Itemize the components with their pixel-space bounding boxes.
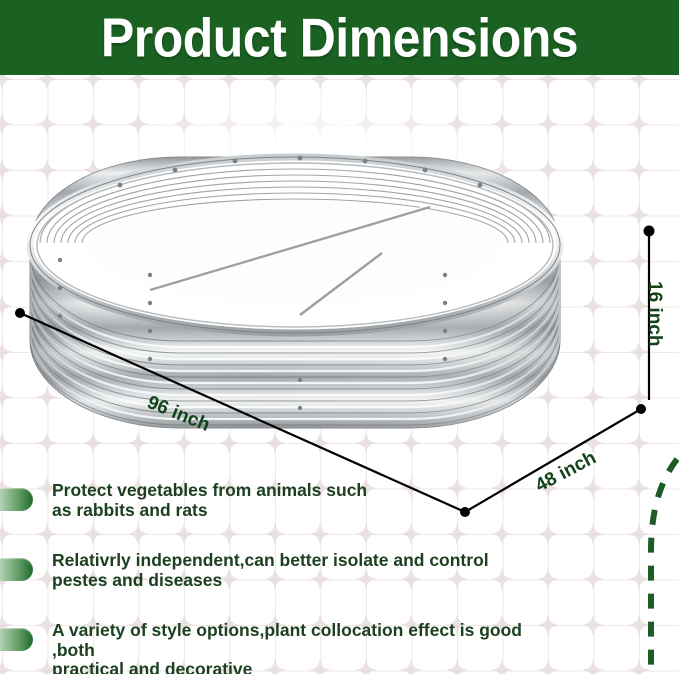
feature-text-3: A variety of style options,plant colloca… bbox=[52, 621, 522, 674]
bullet-pill-icon bbox=[0, 628, 33, 651]
feature-text-2: Relativrly independent,can better isolat… bbox=[52, 551, 522, 590]
feature-line-2a: Relativrly independent,can better isolat… bbox=[52, 550, 489, 570]
feature-line-2b: pestes and diseases bbox=[52, 570, 222, 590]
feature-item-2: Relativrly independent,can better isolat… bbox=[0, 548, 679, 618]
feature-list: Protect vegetables from animals such as … bbox=[0, 478, 679, 674]
feature-line-1b: as rabbits and rats bbox=[52, 500, 208, 520]
feature-line-3a: A variety of style options,plant colloca… bbox=[52, 620, 522, 660]
feature-line-1a: Protect vegetables from animals such bbox=[52, 480, 367, 500]
dimension-label-height: 16 inch bbox=[643, 281, 665, 346]
page-title: Product Dimensions bbox=[101, 10, 578, 65]
bullet-pill-icon bbox=[0, 558, 33, 581]
bullet-pill-icon bbox=[0, 488, 33, 511]
feature-item-3: A variety of style options,plant colloca… bbox=[0, 618, 679, 674]
product-illustration bbox=[0, 75, 679, 515]
product-dimensions-infographic: Product Dimensions bbox=[0, 0, 679, 674]
feature-item-1: Protect vegetables from animals such as … bbox=[0, 478, 679, 548]
feature-line-3b: practical and decorative bbox=[52, 659, 252, 674]
feature-text-1: Protect vegetables from animals such as … bbox=[52, 481, 522, 520]
header-banner: Product Dimensions bbox=[0, 0, 679, 75]
